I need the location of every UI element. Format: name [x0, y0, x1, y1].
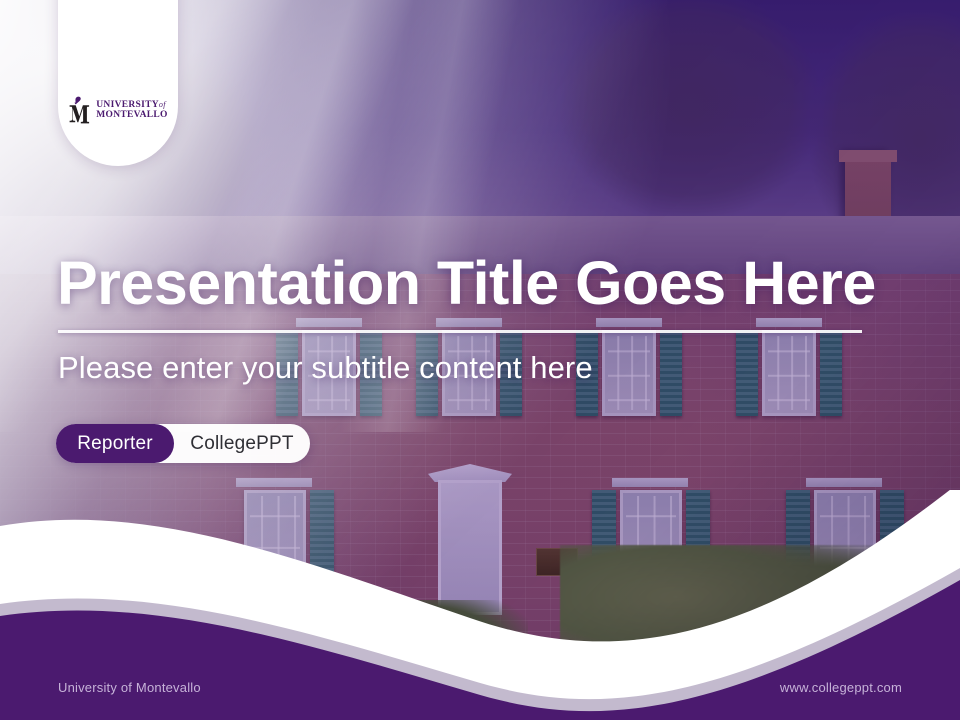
title-divider-rule: [58, 330, 862, 333]
presentation-slide: UNIVERSITYof MONTEVALLO Presentation Tit…: [0, 0, 960, 720]
reporter-badge[interactable]: Reporter CollegePPT: [56, 424, 310, 463]
university-logo: UNIVERSITYof MONTEVALLO: [68, 96, 167, 126]
slide-title: Presentation Title Goes Here: [57, 248, 876, 318]
footer-website-url[interactable]: www.collegeppt.com: [780, 680, 902, 695]
reporter-name: CollegePPT: [174, 433, 310, 455]
footer-university-name: University of Montevallo: [58, 680, 201, 695]
university-logo-badge: UNIVERSITYof MONTEVALLO: [58, 0, 178, 166]
falcon-on-m-icon: [68, 96, 92, 126]
reporter-label: Reporter: [56, 424, 174, 463]
slide-subtitle: Please enter your subtitle content here: [58, 350, 593, 386]
university-logo-text: UNIVERSITYof MONTEVALLO: [96, 101, 167, 120]
logo-line-2: MONTEVALLO: [96, 111, 167, 121]
